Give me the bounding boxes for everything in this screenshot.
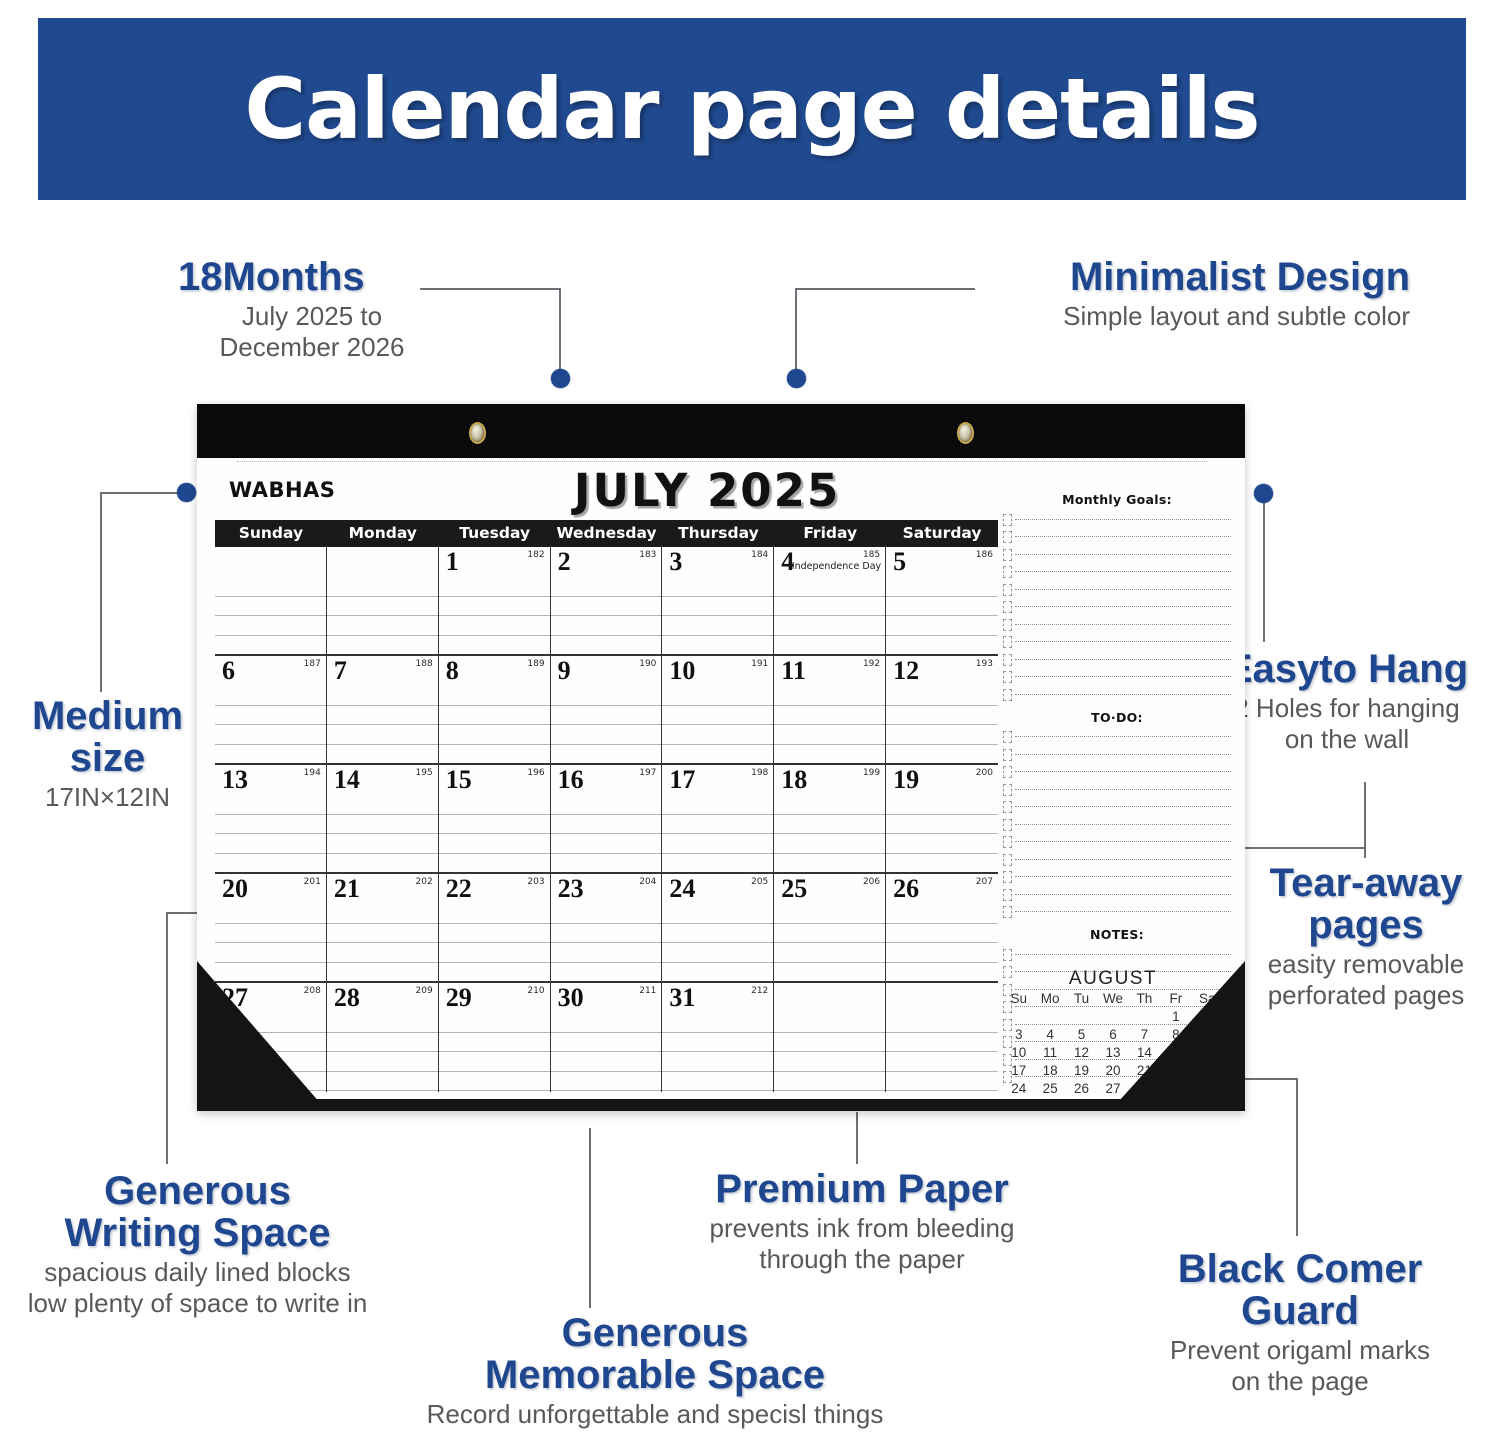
callout-months: 18Months July 2025 to December 2026 [178,256,498,363]
side-line-row[interactable] [1003,546,1231,564]
dotted-writing-line [1015,894,1231,895]
writing-line [662,597,773,617]
checkbox-icon[interactable] [1003,731,1012,743]
day-cell-empty[interactable] [886,983,998,1092]
writing-line [662,706,773,726]
dotted-writing-line [1015,754,1231,755]
writing-line [886,745,998,764]
day-cell[interactable]: 23204 [551,874,663,981]
dotted-writing-line [1015,806,1231,807]
checkbox-icon[interactable] [1003,766,1012,778]
writing-line [662,1013,773,1033]
day-cell[interactable]: 5186 [886,547,998,654]
day-of-year-number: 188 [416,659,433,669]
side-section-label: Monthly Goals: [1003,492,1231,507]
connector-hang-v [1263,492,1265,642]
writing-line [327,834,438,854]
writing-line [551,686,662,706]
writing-lines [662,577,773,654]
side-line-row[interactable] [1003,581,1231,599]
writing-line [774,616,885,636]
writing-line [774,943,885,963]
day-cell[interactable]: 18199 [774,765,886,872]
side-line-row[interactable] [1003,651,1231,669]
dotted-writing-line [1015,736,1231,737]
writing-lines [215,795,326,872]
day-number: 23 [558,876,584,902]
writing-line [886,1013,998,1033]
day-of-year-number: 195 [416,768,433,778]
writing-line [886,1052,998,1072]
black-corner-guard-bottom-left [197,961,327,1111]
side-line-row[interactable] [1003,669,1231,687]
callout-premium-paper-sub: prevents ink from bleeding through the p… [662,1213,1062,1275]
writing-lines [551,686,662,763]
day-number: 9 [558,658,571,684]
dotted-writing-line [1015,536,1231,537]
day-of-year-number: 211 [639,986,656,996]
day-cell[interactable]: 16197 [551,765,663,872]
day-cell[interactable]: 7188 [327,656,439,763]
writing-line [327,706,438,726]
checkbox-icon[interactable] [1003,949,1012,961]
black-corner-guard-bottom-right [1110,961,1245,1111]
writing-line [551,834,662,854]
writing-line [439,1033,550,1053]
checkbox-icon[interactable] [1003,819,1012,831]
writing-line [327,854,438,873]
writing-line [215,834,326,854]
writing-line [662,834,773,854]
day-number: 10 [669,658,695,684]
writing-line [886,815,998,835]
writing-line [551,924,662,944]
writing-line [439,963,550,982]
dotted-writing-line [1015,641,1231,642]
week-row: 20201212022220323204242052520626207 [215,874,998,983]
day-number: 13 [222,767,248,793]
side-line-row[interactable] [1003,799,1231,817]
day-number: 30 [558,985,584,1011]
checkbox-icon[interactable] [1003,689,1012,701]
checkbox-icon[interactable] [1003,619,1012,631]
writing-line [327,1033,438,1053]
writing-lines [327,686,438,763]
day-number: 15 [446,767,472,793]
writing-line [662,815,773,835]
connector-months-v [559,288,561,376]
writing-line [551,963,662,982]
mini-day-cell: 18 [1034,1063,1065,1078]
day-cell[interactable]: 17198 [662,765,774,872]
day-number: 12 [893,658,919,684]
writing-lines [327,904,438,981]
writing-lines [439,795,550,872]
writing-line [551,597,662,617]
day-number: 21 [334,876,360,902]
day-cell-empty[interactable] [327,547,439,654]
day-of-year-number: 204 [639,877,656,887]
writing-line [215,577,326,597]
writing-line [886,597,998,617]
day-of-year-number: 184 [751,550,768,560]
day-of-year-number: 206 [863,877,880,887]
writing-line [439,725,550,745]
writing-line [327,795,438,815]
side-line-row[interactable] [1003,781,1231,799]
day-number: 17 [669,767,695,793]
writing-line [327,725,438,745]
writing-lines [886,1013,998,1091]
writing-line [886,834,998,854]
side-line-row[interactable] [1003,729,1231,747]
checkbox-icon[interactable] [1003,906,1012,918]
dotted-writing-line [1015,589,1231,590]
day-number: 11 [781,658,806,684]
writing-line [215,904,326,924]
checkbox-icon[interactable] [1003,514,1012,526]
checkbox-icon[interactable] [1003,671,1012,683]
day-cell[interactable]: 30211 [551,983,663,1092]
writing-line [439,745,550,764]
day-cell-empty[interactable] [774,983,886,1092]
checkbox-icon[interactable] [1003,801,1012,813]
writing-line [662,1033,773,1053]
day-cell[interactable]: 14195 [327,765,439,872]
mini-day-cell-empty [1034,1009,1065,1024]
writing-line [215,725,326,745]
callout-months-sub: July 2025 to December 2026 [178,301,446,363]
day-of-year-number: 183 [639,550,656,560]
day-cell[interactable]: 1182 [439,547,551,654]
checkbox-icon[interactable] [1003,654,1012,666]
day-cell[interactable]: 9190 [551,656,663,763]
page-header-banner: Calendar page details [38,18,1466,200]
dotted-writing-line [1015,771,1231,772]
day-cell[interactable]: 25206 [774,874,886,981]
writing-line [774,577,885,597]
day-of-year-number: 198 [751,768,768,778]
day-number: 7 [334,658,347,684]
day-cell[interactable]: 24205 [662,874,774,981]
weekday-header-thursday: Thursday [663,520,773,545]
day-cell[interactable]: 8189 [439,656,551,763]
dotted-writing-line [1015,859,1231,860]
callout-black-corner-guard-title: Black Comer Guard [1100,1248,1500,1332]
checkbox-icon[interactable] [1003,584,1012,596]
writing-line [215,745,326,764]
day-number: 5 [893,549,906,575]
checkbox-icon[interactable] [1003,749,1012,761]
day-of-year-number: 207 [976,877,993,887]
side-line-row[interactable] [1003,599,1231,617]
side-line-row[interactable] [1003,816,1231,834]
writing-line [774,834,885,854]
writing-lines [774,577,885,654]
writing-lines [551,795,662,872]
writing-line [439,597,550,617]
writing-lines [215,577,326,654]
writing-lines [439,904,550,981]
checkbox-icon[interactable] [1003,601,1012,613]
day-number: 25 [781,876,807,902]
mini-day-cell: 3 [1003,1027,1034,1042]
connector-months-h [420,288,560,290]
day-cell[interactable]: 4185Independence Day [774,547,886,654]
day-cell[interactable]: 12193 [886,656,998,763]
writing-lines [662,904,773,981]
hanging-hole-grommet-left [469,422,486,444]
writing-line [774,815,885,835]
writing-line [551,577,662,597]
side-line-row[interactable] [1003,616,1231,634]
writing-line [215,815,326,835]
day-of-year-number: 200 [976,768,993,778]
writing-line [215,636,326,655]
day-cell[interactable]: 13194 [215,765,327,872]
dotted-writing-line [1015,911,1231,912]
writing-line [551,815,662,835]
day-number: 28 [334,985,360,1011]
dotted-writing-line [1015,519,1231,520]
writing-line [327,924,438,944]
day-cell[interactable]: 28209 [327,983,439,1092]
callout-generous-writing-space-title: Generous Writing Space [0,1170,395,1254]
writing-line [439,815,550,835]
weekday-header-friday: Friday [775,520,885,545]
brand-logo-text: WABHAS [229,478,335,502]
side-line-row[interactable] [1003,746,1231,764]
writing-line [886,686,998,706]
side-section-lines[interactable] [1003,511,1231,704]
weekday-header-monday: Monday [328,520,438,545]
mini-weekday-header-su: Su [1003,991,1034,1006]
day-number: 8 [446,658,459,684]
writing-line [662,725,773,745]
writing-line [662,636,773,655]
week-row: 2720828209292103021131212 [215,983,998,1092]
side-line-row[interactable] [1003,904,1231,922]
connector-medium-h [100,492,184,494]
side-section-lines[interactable] [1003,729,1231,922]
day-number: 26 [893,876,919,902]
writing-line [327,943,438,963]
writing-line [774,963,885,982]
writing-line [551,1072,662,1092]
connector-medium-v [100,492,102,692]
side-line-row[interactable] [1003,634,1231,652]
mini-day-cell: 12 [1066,1045,1097,1060]
week-rows: 1182218331844185Independence Day51866187… [215,545,998,1092]
writing-line [327,745,438,764]
callout-medium-size: Medium size 17IN×12IN [0,695,215,813]
day-cell[interactable]: 15196 [439,765,551,872]
mini-day-cell-empty [1066,1009,1097,1024]
writing-line [551,1013,662,1033]
day-cell[interactable]: 10191 [662,656,774,763]
writing-line [327,815,438,835]
mini-day-cell: 10 [1003,1045,1034,1060]
dotted-writing-line [1015,789,1231,790]
callout-medium-size-title: Medium size [0,695,215,779]
writing-line [886,795,998,815]
writing-lines [774,904,885,981]
side-line-row[interactable] [1003,511,1231,529]
day-cell[interactable]: 19200 [886,765,998,872]
mini-day-cell: 11 [1034,1045,1065,1060]
callout-tear-away-pages-title: Tear-away pages [1232,862,1500,946]
holiday-label: Independence Day [792,561,881,572]
side-line-row[interactable] [1003,686,1231,704]
day-cell[interactable]: 6187 [215,656,327,763]
writing-line [439,834,550,854]
writing-lines [439,1013,550,1091]
weekday-header-sunday: Sunday [216,520,326,545]
writing-line [774,904,885,924]
side-line-row[interactable] [1003,869,1231,887]
side-line-row[interactable] [1003,529,1231,547]
callout-minimalist-design-sub: Simple layout and subtle color [910,301,1410,332]
writing-line [774,686,885,706]
calendar-bottom-bar [197,1099,1245,1111]
writing-line [551,636,662,655]
day-cell[interactable]: 22203 [439,874,551,981]
mini-day-cell: 4 [1034,1027,1065,1042]
mini-day-cell: 24 [1003,1081,1034,1096]
day-cell[interactable]: 31212 [662,983,774,1092]
writing-line [662,1052,773,1072]
writing-line [886,577,998,597]
day-number: 31 [669,985,695,1011]
side-section-label: NOTES: [1003,927,1231,942]
callout-black-corner-guard-sub: Prevent origaml marks on the page [1100,1335,1500,1397]
checkbox-icon[interactable] [1003,566,1012,578]
writing-line [215,616,326,636]
day-number: 20 [222,876,248,902]
side-line-row[interactable] [1003,764,1231,782]
day-cell[interactable]: 2183 [551,547,663,654]
writing-line [327,597,438,617]
day-of-year-number: 191 [751,659,768,669]
day-cell[interactable]: 26207 [886,874,998,981]
side-section-label: TO·DO: [1003,710,1231,725]
mini-day-cell: 5 [1066,1027,1097,1042]
day-cell[interactable]: 29210 [439,983,551,1092]
day-of-year-number: 210 [527,986,544,996]
callout-premium-paper: Premium Paper prevents ink from bleeding… [662,1168,1062,1275]
checkbox-icon[interactable] [1003,836,1012,848]
dotted-writing-line [1015,824,1231,825]
writing-lines [886,577,998,654]
checkbox-icon[interactable] [1003,854,1012,866]
connector-guard-v [1296,1078,1298,1236]
perforation-line [237,461,1207,462]
day-of-year-number: 192 [863,659,880,669]
writing-line [439,795,550,815]
writing-line [662,745,773,764]
day-of-year-number: 189 [527,659,544,669]
day-number: 6 [222,658,235,684]
checkbox-icon[interactable] [1003,531,1012,543]
day-cell[interactable]: 3184 [662,547,774,654]
day-number: 3 [669,549,682,575]
writing-line [774,636,885,655]
writing-line [327,963,438,982]
writing-lines [886,904,998,981]
writing-line [774,1052,885,1072]
writing-line [662,924,773,944]
day-cell[interactable]: 21202 [327,874,439,981]
writing-line [439,1052,550,1072]
writing-line [439,854,550,873]
side-line-row[interactable] [1003,564,1231,582]
writing-line [327,616,438,636]
writing-lines [551,904,662,981]
dotted-writing-line [1015,606,1231,607]
writing-line [551,795,662,815]
day-of-year-number: 205 [751,877,768,887]
writing-line [439,636,550,655]
writing-line [774,706,885,726]
day-cell[interactable]: 11192 [774,656,886,763]
writing-lines [327,795,438,872]
day-of-year-number: 199 [863,768,880,778]
checkbox-icon[interactable] [1003,549,1012,561]
writing-line [886,943,998,963]
day-of-year-number: 212 [751,986,768,996]
connector-dot-medium [177,483,196,502]
connector-memorable-v [589,1128,591,1308]
week-row: 13194141951519616197171981819919200 [215,765,998,874]
dotted-writing-line [1015,876,1231,877]
checkbox-icon[interactable] [1003,871,1012,883]
writing-line [662,616,773,636]
dotted-writing-line [1015,954,1231,955]
writing-line [774,725,885,745]
checkbox-icon[interactable] [1003,784,1012,796]
connector-minimalist-v [795,288,797,376]
writing-lines [662,1013,773,1091]
side-section: TO·DO: [1003,710,1231,922]
month-year-title: JULY 2025 [497,464,917,517]
writing-line [662,854,773,873]
writing-line [886,616,998,636]
writing-line [774,854,885,873]
side-line-row[interactable] [1003,851,1231,869]
callout-premium-paper-title: Premium Paper [662,1168,1062,1210]
writing-line [886,1033,998,1053]
day-cell-empty[interactable] [215,547,327,654]
checkbox-icon[interactable] [1003,889,1012,901]
connector-dot-months [551,369,570,388]
day-number: 14 [334,767,360,793]
dotted-writing-line [1015,659,1231,660]
side-line-row[interactable] [1003,834,1231,852]
day-of-year-number: 201 [304,877,321,887]
checkbox-icon[interactable] [1003,636,1012,648]
connector-premium-v [856,1112,858,1164]
mini-weekday-header-mo: Mo [1034,991,1065,1006]
hanging-hole-grommet-right [957,422,974,444]
writing-line [662,943,773,963]
writing-line [551,1052,662,1072]
writing-line [215,597,326,617]
side-line-row[interactable] [1003,886,1231,904]
writing-line [327,577,438,597]
dotted-writing-line [1015,554,1231,555]
writing-line [551,904,662,924]
mini-day-cell-empty [1003,1009,1034,1024]
